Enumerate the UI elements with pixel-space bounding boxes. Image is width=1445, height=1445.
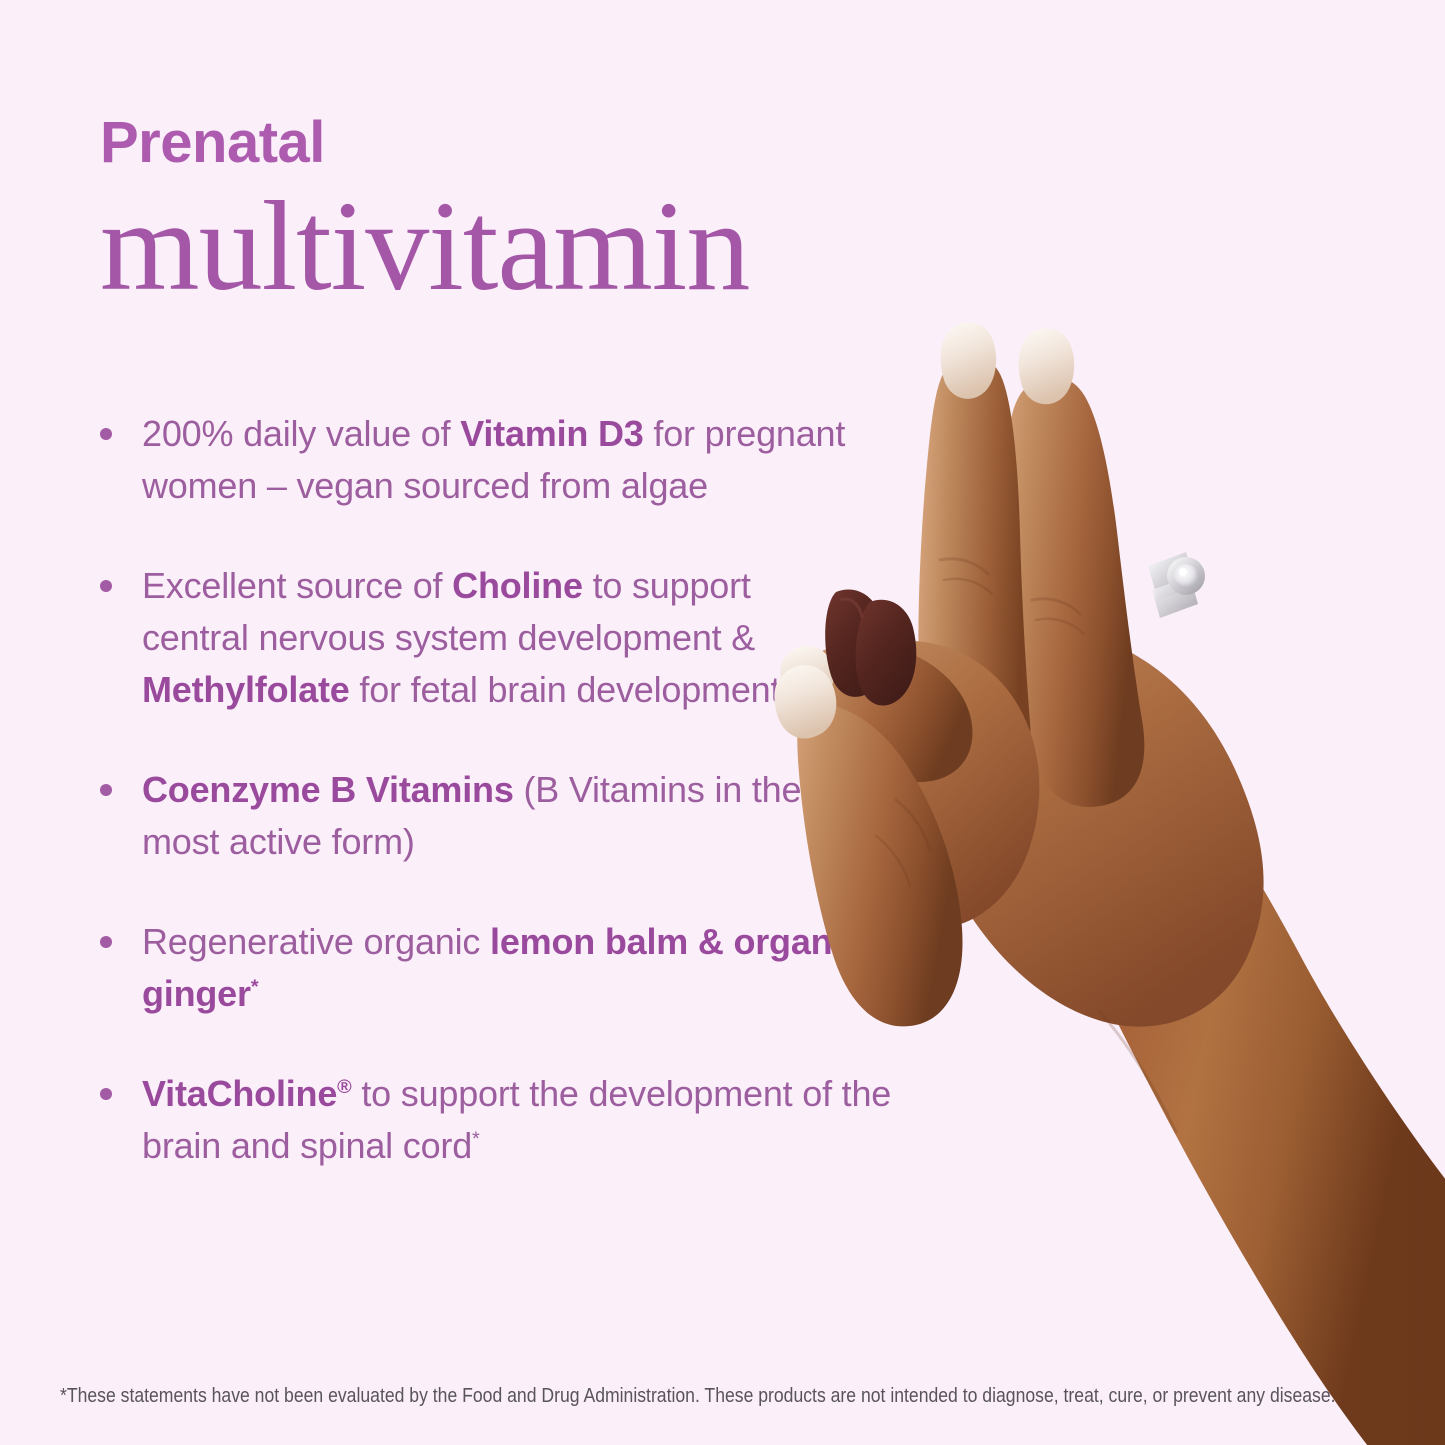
bullet-dot-icon [100,428,112,440]
list-item: VitaCholine® to support the development … [88,1068,978,1172]
bullet-dot-icon [100,1088,112,1100]
list-item: Regenerative organic lemon balm & organi… [88,916,878,1020]
diamond-ring [1148,552,1205,618]
headline-wordmark: multivitamin [100,180,930,312]
product-graphic: Prenatal multivitamin 200% daily value o… [0,0,1445,1445]
bullet-text: Excellent source of Choline to support c… [142,565,788,710]
headline-kicker: Prenatal [100,112,930,174]
bullet-text: Coenzyme B Vitamins (B Vitamins in their… [142,769,821,862]
benefits-list: 200% daily value of Vitamin D3 for pregn… [88,408,968,1172]
list-item: Excellent source of Choline to support c… [88,560,808,716]
bullet-dot-icon [100,936,112,948]
list-item: 200% daily value of Vitamin D3 for pregn… [88,408,848,512]
fda-disclaimer: *These statements have not been evaluate… [60,1383,1230,1409]
list-item: Coenzyme B Vitamins (B Vitamins in their… [88,764,878,868]
bullet-dot-icon [100,784,112,796]
bullet-text: Regenerative organic lemon balm & organi… [142,921,862,1014]
bullet-text: VitaCholine® to support the development … [142,1073,891,1166]
bullet-dot-icon [100,580,112,592]
bullet-text: 200% daily value of Vitamin D3 for pregn… [142,413,845,506]
headline-block: Prenatal multivitamin [100,112,930,312]
